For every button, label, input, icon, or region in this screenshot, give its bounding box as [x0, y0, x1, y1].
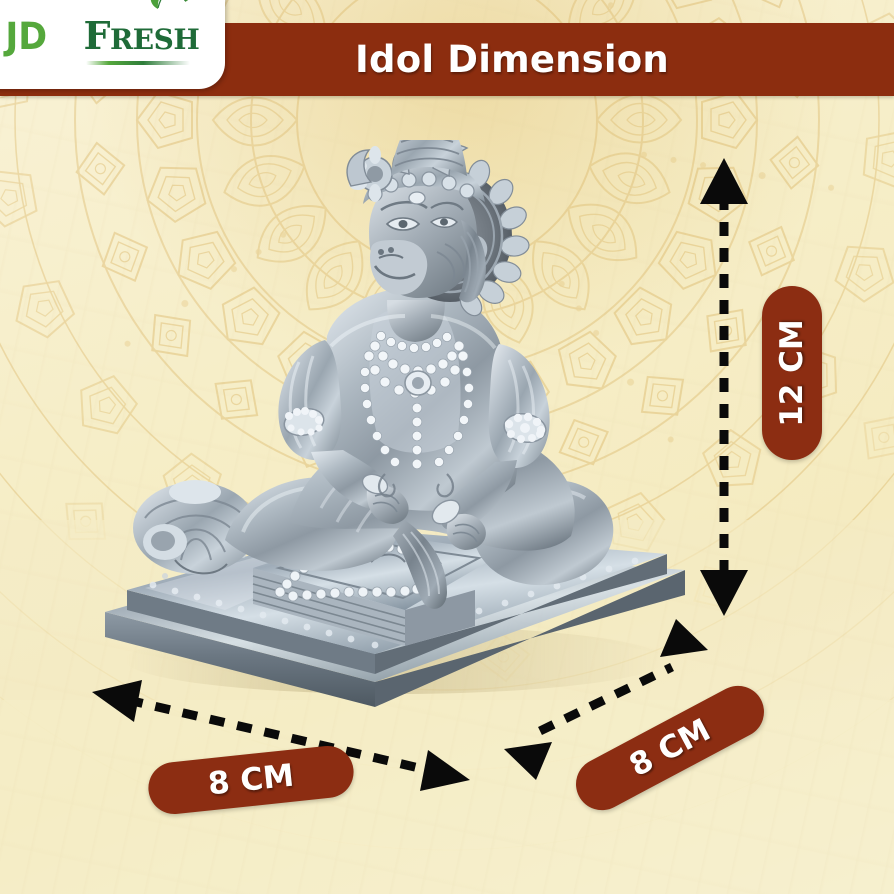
- brand-logo[interactable]: JD FRESH: [0, 0, 225, 89]
- hanuman-idol-image: [75, 140, 715, 740]
- leaf-icon: [166, 0, 198, 3]
- width-dimension-label: 8 CM: [206, 758, 295, 803]
- width-dimension-badge: 8 CM: [146, 743, 356, 816]
- logo-text-fresh: FRESH: [84, 13, 200, 58]
- height-dimension-label: 12 CM: [774, 319, 810, 427]
- logo-fresh-rest: RESH: [110, 23, 199, 56]
- logo-text-jd: JD: [5, 15, 47, 58]
- logo-underline: [86, 61, 190, 65]
- logo-fresh-cap: F: [84, 13, 110, 58]
- height-dimension-badge: 12 CM: [762, 286, 822, 460]
- idol-dimension-infographic: 12 CM 8 CM 8 CM Idol Dimension JD FRESH: [0, 0, 894, 894]
